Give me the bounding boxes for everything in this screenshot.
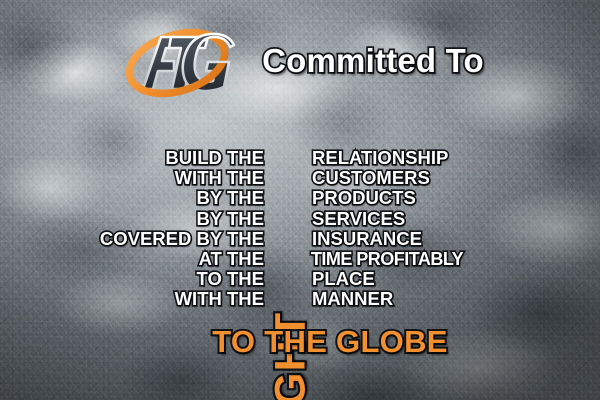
- crossword-row: AT THE TIME PROFITABLY: [0, 249, 600, 269]
- row-prefix: BY THE: [0, 209, 267, 229]
- crossword-row: TO THE PLACE: [0, 269, 600, 289]
- row-prefix: COVERED BY THE: [0, 229, 267, 249]
- crossword-row: BUILD THE RELATIONSHIP: [0, 148, 600, 168]
- row-prefix: TO THE: [0, 269, 267, 289]
- row-prefix: BY THE: [0, 188, 267, 208]
- row-prefix: BUILD THE: [0, 148, 267, 168]
- row-suffix: PLACE: [267, 269, 375, 289]
- atg-logo: [116, 23, 238, 99]
- crossword-row: COVERED BY THE INSURANCE: [0, 229, 600, 249]
- row-prefix: WITH THE: [0, 168, 267, 188]
- tagline: TO THE GLOBE: [0, 325, 600, 359]
- row-suffix: CUSTOMERS: [267, 168, 430, 188]
- crossword-row: WITH THE MANNER: [0, 289, 600, 309]
- slide-canvas: Committed To BUILD THE RELATIONSHIP WITH…: [0, 0, 600, 400]
- row-suffix: RELATIONSHIP: [267, 148, 448, 168]
- row-suffix: MANNER: [267, 289, 393, 309]
- row-suffix: TIME PROFITABLY: [267, 249, 463, 269]
- row-prefix: AT THE: [0, 249, 267, 269]
- crossword-block: BUILD THE RELATIONSHIP WITH THE CUSTOMER…: [0, 148, 600, 323]
- crossword-rows: BUILD THE RELATIONSHIP WITH THE CUSTOMER…: [0, 148, 600, 310]
- row-prefix: WITH THE: [0, 289, 267, 309]
- tagline-text: TO THE GLOBE: [212, 324, 448, 359]
- committed-to-title: Committed To: [262, 44, 484, 79]
- row-suffix: INSURANCE: [267, 229, 422, 249]
- crossword-row: BY THE SERVICES: [0, 209, 600, 229]
- header: Committed To: [0, 22, 600, 100]
- row-suffix: PRODUCTS: [267, 188, 416, 208]
- crossword-row: BY THE PRODUCTS: [0, 188, 600, 208]
- crossword-row: WITH THE CUSTOMERS: [0, 168, 600, 188]
- row-suffix: SERVICES: [267, 209, 405, 229]
